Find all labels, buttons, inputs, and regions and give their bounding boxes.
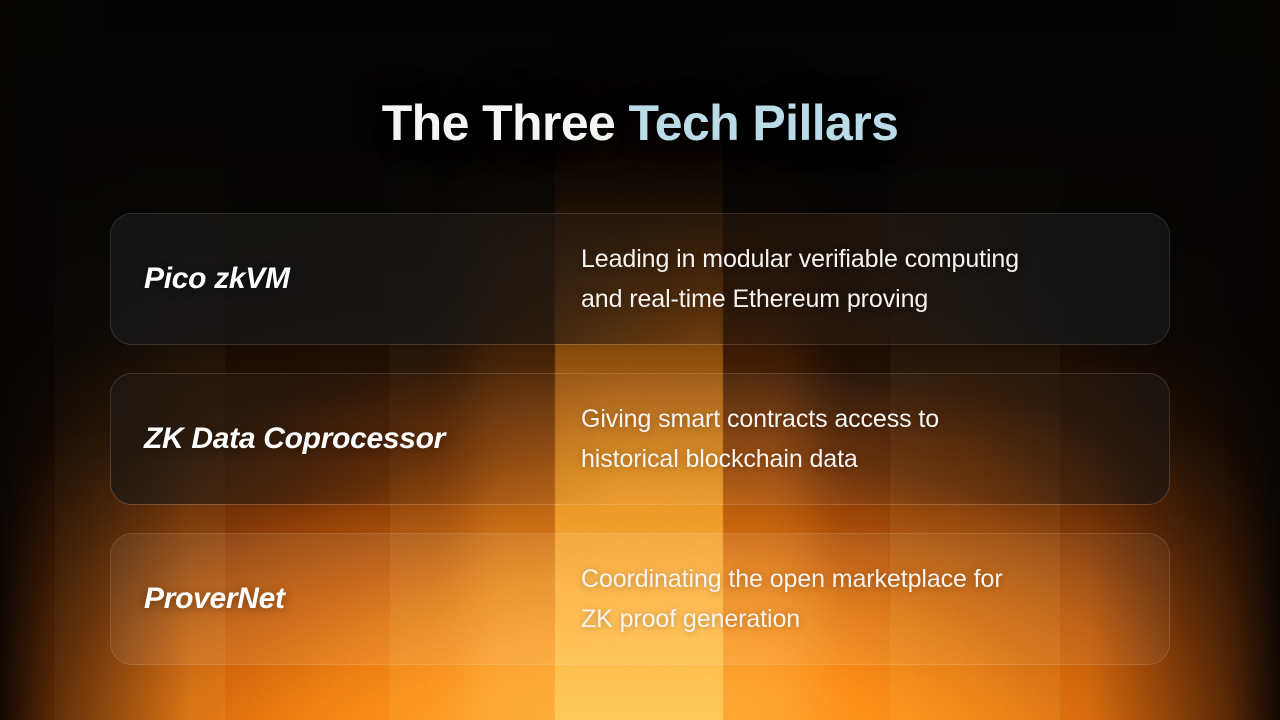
pillar-card-zk-data-coprocessor[interactable]: ZK Data Coprocessor Giving smart contrac… bbox=[110, 373, 1170, 505]
pillar-description-line-1: Coordinating the open marketplace for bbox=[581, 559, 1169, 599]
pillar-description: Coordinating the open marketplace for ZK… bbox=[581, 559, 1169, 639]
pillar-description-line-2: historical blockchain data bbox=[581, 439, 1169, 479]
card-inner: Pico zkVM Leading in modular verifiable … bbox=[111, 214, 1169, 344]
pillar-card-pico-zkvm[interactable]: Pico zkVM Leading in modular verifiable … bbox=[110, 213, 1170, 345]
pillar-card-list: Pico zkVM Leading in modular verifiable … bbox=[110, 213, 1170, 665]
pillar-description: Leading in modular verifiable computing … bbox=[581, 239, 1169, 319]
page-title-accent: Tech Pillars bbox=[629, 95, 899, 151]
pillar-name: ZK Data Coprocessor bbox=[111, 422, 581, 456]
page-title: The Three Tech Pillars bbox=[0, 96, 1280, 151]
pillar-description-line-2: ZK proof generation bbox=[581, 599, 1169, 639]
pillar-card-provernet[interactable]: ProverNet Coordinating the open marketpl… bbox=[110, 533, 1170, 665]
pillar-description: Giving smart contracts access to histori… bbox=[581, 399, 1169, 479]
slide-content: The Three Tech Pillars Pico zkVM Leading… bbox=[0, 0, 1280, 720]
pillar-description-line-1: Giving smart contracts access to bbox=[581, 399, 1169, 439]
pillar-description-line-1: Leading in modular verifiable computing bbox=[581, 239, 1169, 279]
card-inner: ProverNet Coordinating the open marketpl… bbox=[111, 534, 1169, 664]
pillar-name: Pico zkVM bbox=[111, 262, 581, 296]
pillar-name: ProverNet bbox=[111, 582, 581, 616]
pillar-description-line-2: and real-time Ethereum proving bbox=[581, 279, 1169, 319]
page-title-leading: The Three bbox=[382, 95, 629, 151]
card-inner: ZK Data Coprocessor Giving smart contrac… bbox=[111, 374, 1169, 504]
slide-root: The Three Tech Pillars Pico zkVM Leading… bbox=[0, 0, 1280, 720]
